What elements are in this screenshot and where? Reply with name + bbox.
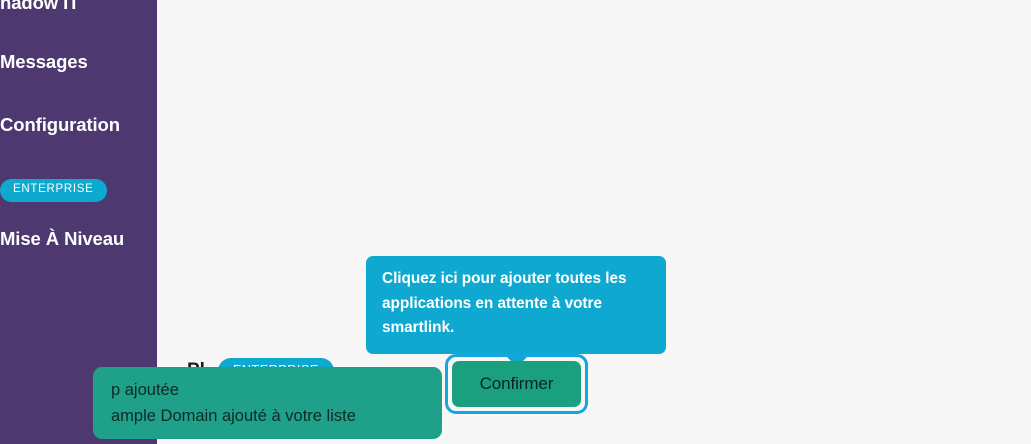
confirm-button-focus-ring: Confirmer xyxy=(445,354,588,414)
confirm-button[interactable]: Confirmer xyxy=(452,361,581,407)
toast-notification[interactable]: p ajoutée ample Domain ajouté à votre li… xyxy=(93,367,442,439)
sidebar-item-shadow-it[interactable]: hadow IT xyxy=(0,0,79,14)
tooltip-text: Cliquez ici pour ajouter toutes les appl… xyxy=(382,267,650,341)
sidebar-item-label: Mise À Niveau xyxy=(0,228,124,249)
tooltip-callout: Cliquez ici pour ajouter toutes les appl… xyxy=(366,256,666,354)
sidebar-item-label: Messages xyxy=(0,51,88,72)
toast-message: ample Domain ajouté à votre liste xyxy=(111,402,424,430)
sidebar-item-label: hadow IT xyxy=(0,0,79,13)
main-content: Pl ENTERPRISE es applications 1 0€ Cliqu… xyxy=(157,0,1031,444)
sidebar-item-label: Configuration xyxy=(0,114,120,135)
sidebar-item-configuration[interactable]: Configuration xyxy=(0,114,120,136)
sidebar-plan-badge: ENTERPRISE xyxy=(0,179,107,202)
toast-title: p ajoutée xyxy=(111,378,424,402)
sidebar-item-messages[interactable]: Messages xyxy=(0,51,88,73)
page-root: hadow IT Messages Configuration ENTERPRI… xyxy=(0,0,1031,444)
sidebar-item-mise-a-niveau[interactable]: Mise À Niveau xyxy=(0,228,124,250)
